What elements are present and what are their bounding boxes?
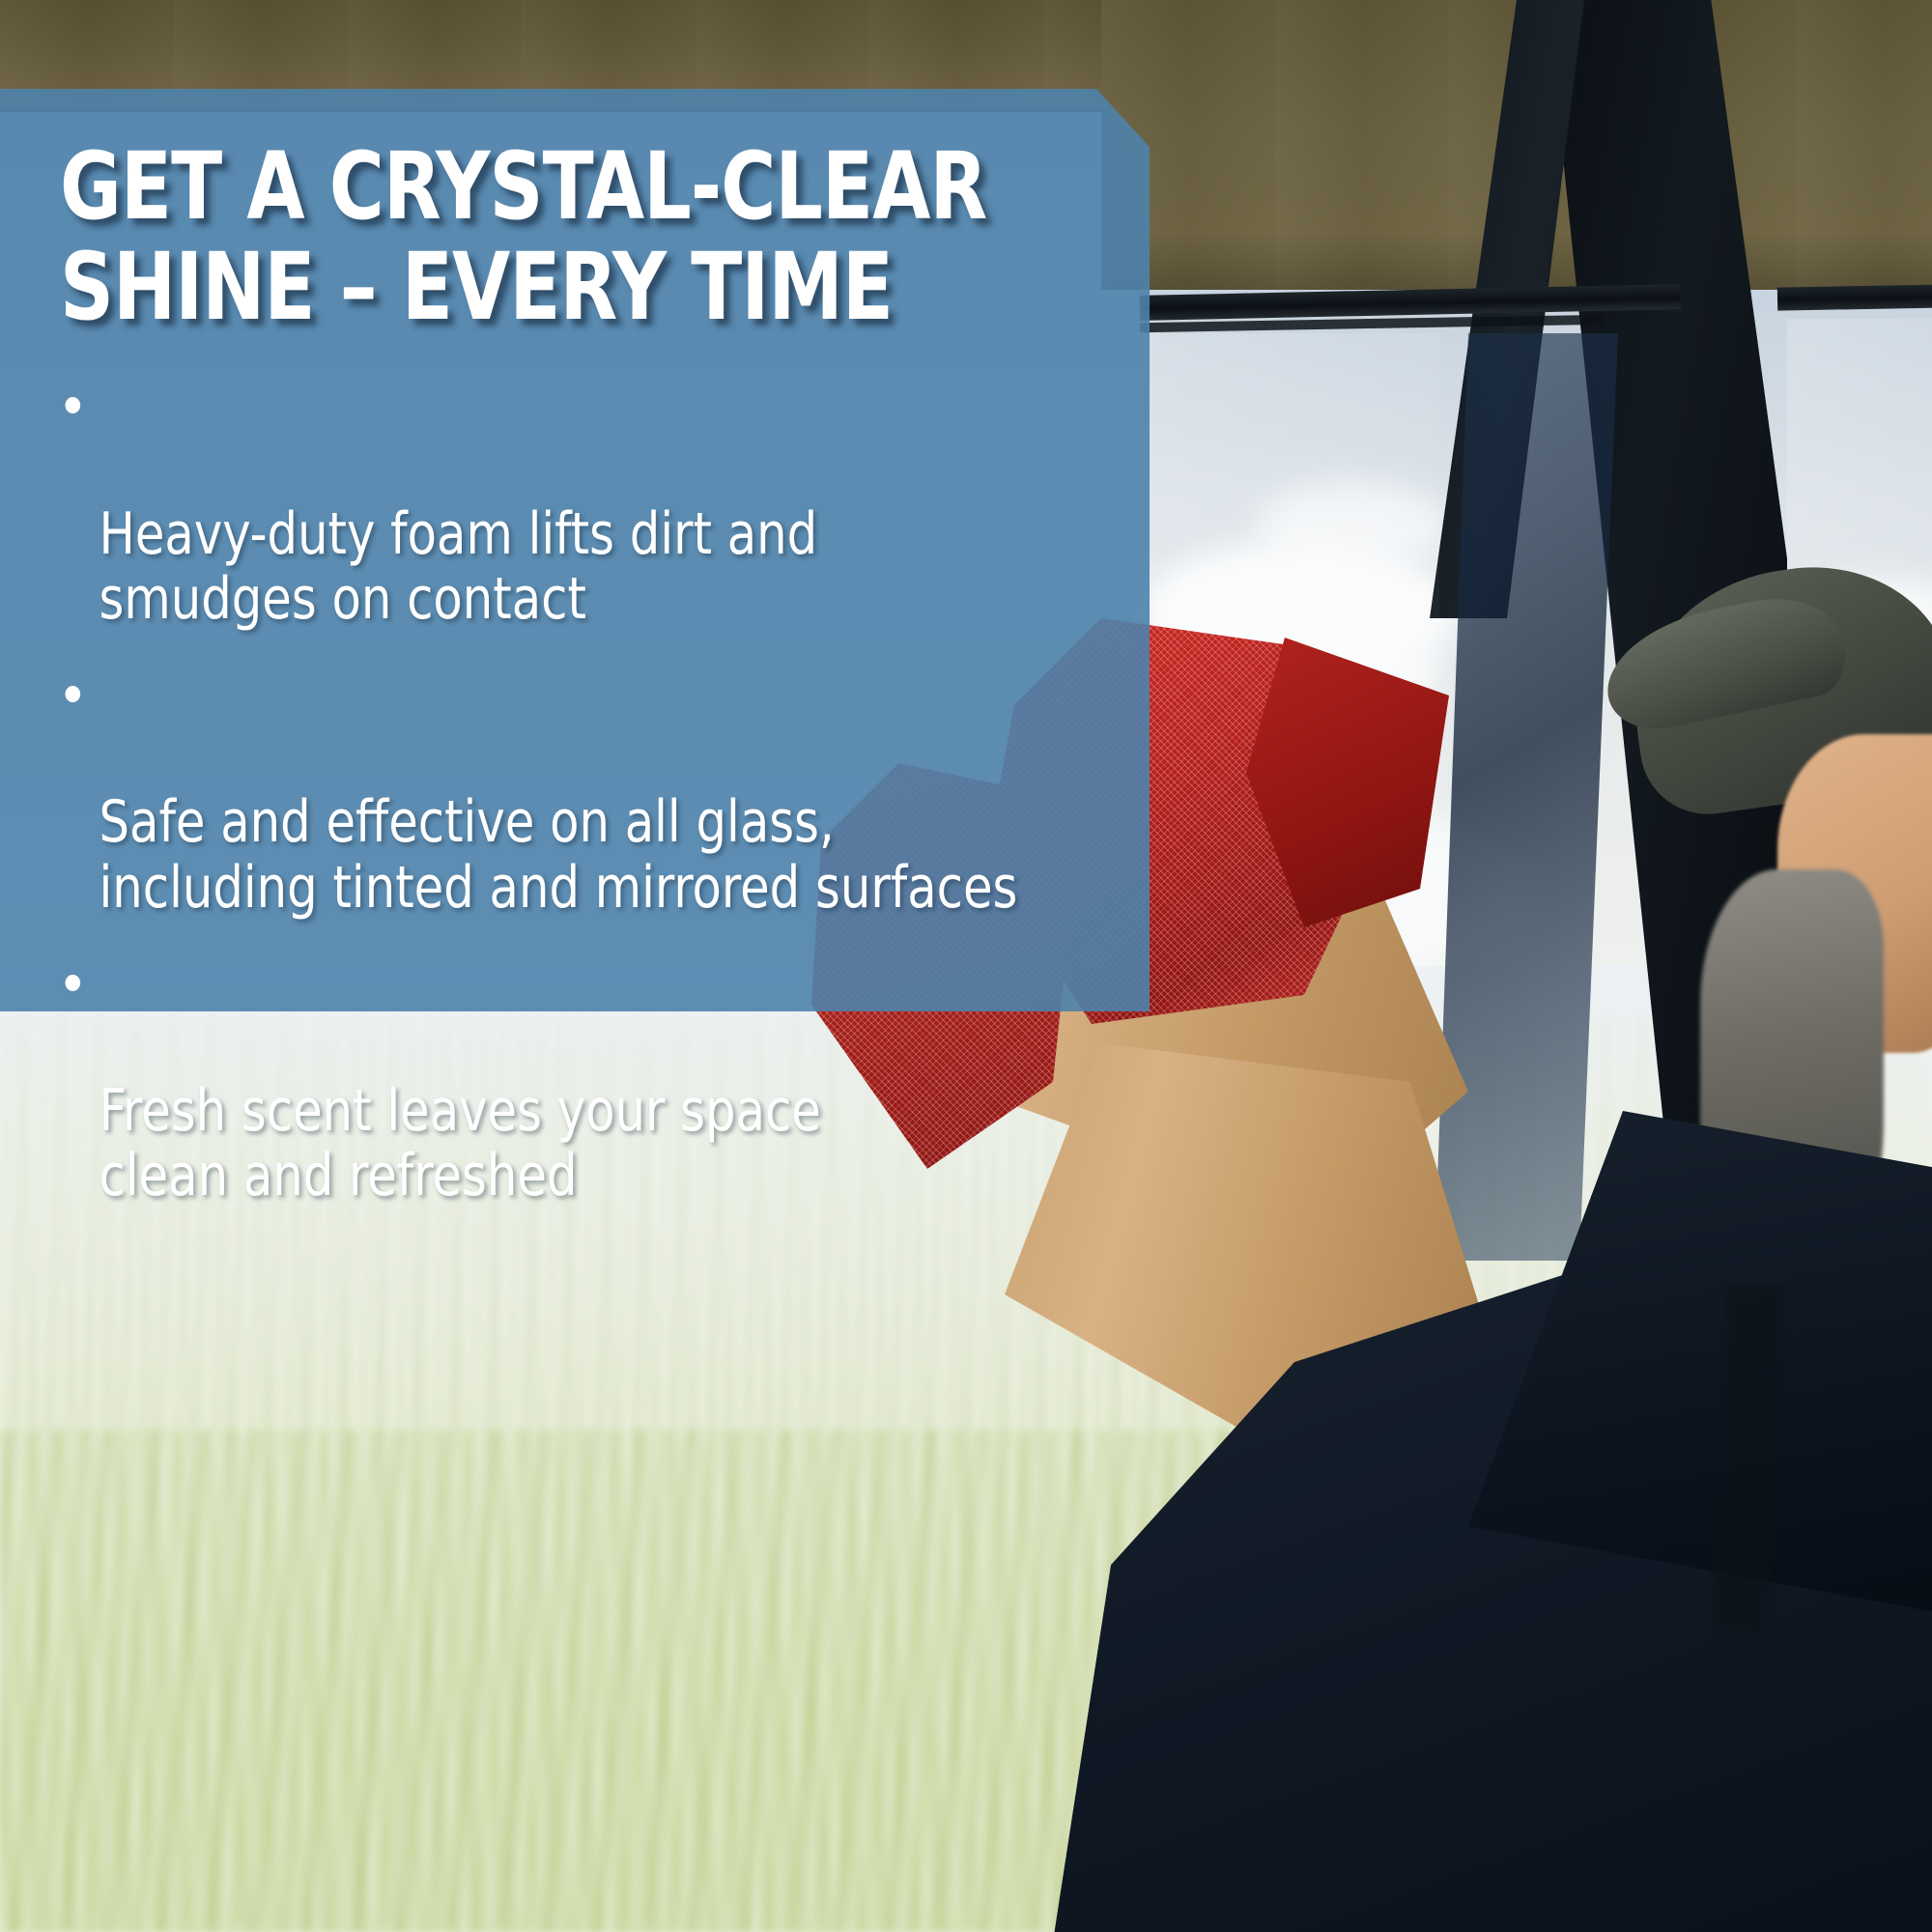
window-header-rail [1777,284,1932,310]
benefit-list: Heavy-duty foam lifts dirt and smudges o… [60,372,1063,1208]
bullet-dot-icon [66,975,81,991]
overlay-content: GET A CRYSTAL-CLEAR SHINE – EVERY TIME H… [0,89,1150,1011]
marketing-banner: GET A CRYSTAL-CLEAR SHINE – EVERY TIME H… [0,0,1932,1932]
page-title: GET A CRYSTAL-CLEAR SHINE – EVERY TIME [60,137,1040,337]
bullet-dot-icon [66,686,81,702]
bullet-dot-icon [66,397,81,413]
bullet-text: Fresh scent leaves your space clean and … [99,1077,820,1209]
list-item: Safe and effective on all glass, includi… [60,661,1063,921]
list-item: Heavy-duty foam lifts dirt and smudges o… [60,372,1063,632]
bullet-text: Safe and effective on all glass, includi… [99,788,1017,921]
list-item: Fresh scent leaves your space clean and … [60,950,1063,1209]
bullet-text: Heavy-duty foam lifts dirt and smudges o… [99,500,817,633]
